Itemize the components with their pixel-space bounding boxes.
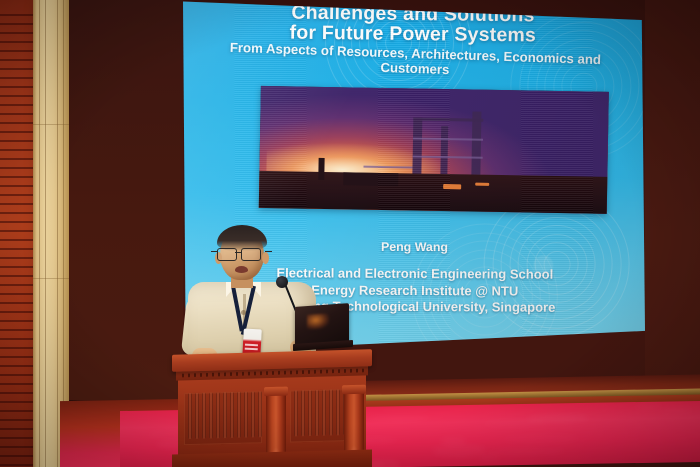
podium-flute — [216, 392, 220, 438]
dentil — [326, 369, 328, 373]
dentil — [218, 372, 220, 376]
podium-flute — [336, 389, 340, 435]
dentil — [314, 370, 316, 374]
dentil — [278, 371, 280, 375]
badge-line-1 — [245, 344, 258, 346]
dentil — [344, 369, 346, 373]
podium-flute — [244, 392, 248, 438]
dentil — [302, 370, 304, 374]
podium-flute — [209, 392, 213, 438]
pillar-seam — [33, 124, 69, 125]
dentil — [284, 371, 286, 375]
dentil — [224, 372, 226, 376]
dentil — [194, 373, 196, 377]
dentil — [182, 373, 184, 377]
photo-light-flare-2 — [475, 182, 489, 186]
podium-flute — [329, 390, 333, 436]
pillar-groove — [63, 0, 64, 467]
dentil — [332, 369, 334, 373]
dentil — [206, 373, 208, 377]
dentil — [230, 372, 232, 376]
dentil — [362, 368, 364, 372]
carpet-highlight — [503, 433, 580, 445]
right-dark-wall-panel — [645, 0, 700, 400]
decorative-pillar — [33, 0, 69, 467]
screenshot-root: Challenges and Solutions for Future Powe… — [0, 0, 700, 467]
dentil — [308, 370, 310, 374]
microphone-capsule — [276, 276, 288, 288]
carpet-highlight — [658, 406, 693, 414]
carpet-highlight — [526, 413, 589, 422]
podium-flute — [202, 393, 206, 439]
pillar-groove — [45, 0, 46, 467]
glasses-lens-left — [217, 248, 237, 261]
badge-line-2 — [245, 348, 258, 350]
slide-photo-substation-sunset — [259, 86, 609, 214]
pillar-groove — [57, 0, 58, 467]
podium-flute — [223, 392, 227, 438]
speaker-glasses — [217, 248, 267, 259]
dentil — [266, 371, 268, 375]
presenter-laptop — [295, 305, 357, 351]
dentil — [290, 370, 292, 374]
dentil — [296, 370, 298, 374]
podium-flute — [294, 390, 298, 436]
pillar-seam — [33, 278, 69, 279]
photo-foreground-silhouette — [259, 171, 608, 214]
podium-flute — [301, 390, 305, 436]
pillar-groove — [39, 0, 40, 467]
podium-flute — [322, 390, 326, 436]
dentil — [212, 373, 214, 377]
dentil — [320, 370, 322, 374]
laptop-screen-reflection — [307, 313, 329, 330]
podium-flute — [258, 391, 262, 437]
photo-equipment-block — [343, 173, 399, 186]
podium-flute — [188, 393, 192, 439]
podium-flute — [308, 390, 312, 436]
photo-pylon-small — [318, 158, 324, 180]
dentil — [242, 372, 244, 376]
podium-flute — [315, 390, 319, 436]
podium-flute — [195, 393, 199, 439]
podium-flute — [237, 392, 241, 438]
column-capital — [264, 387, 288, 397]
carpet-highlight — [487, 447, 566, 455]
dentil — [236, 372, 238, 376]
glasses-temple-left — [211, 251, 218, 252]
podium-flute — [251, 391, 255, 437]
dentil — [350, 369, 352, 373]
column-capital-right — [342, 385, 366, 395]
glasses-temple-right — [265, 251, 272, 252]
dentil — [248, 372, 250, 376]
carpet-highlight — [432, 444, 487, 457]
podium — [172, 352, 372, 467]
dentil — [254, 371, 256, 375]
dentil — [272, 371, 274, 375]
photo-light-flare — [444, 184, 461, 189]
dentil — [338, 369, 340, 373]
carpet-highlight — [367, 415, 430, 422]
carpet-highlight — [379, 407, 432, 414]
dentil — [260, 371, 262, 375]
dentil — [188, 373, 190, 377]
left-dark-wall-panel — [69, 0, 183, 400]
dentil — [200, 373, 202, 377]
speaker-mouth — [235, 266, 248, 273]
glasses-lens-right — [241, 248, 261, 261]
podium-flute — [230, 392, 234, 438]
glasses-bridge — [235, 252, 241, 253]
dentil — [356, 369, 358, 373]
